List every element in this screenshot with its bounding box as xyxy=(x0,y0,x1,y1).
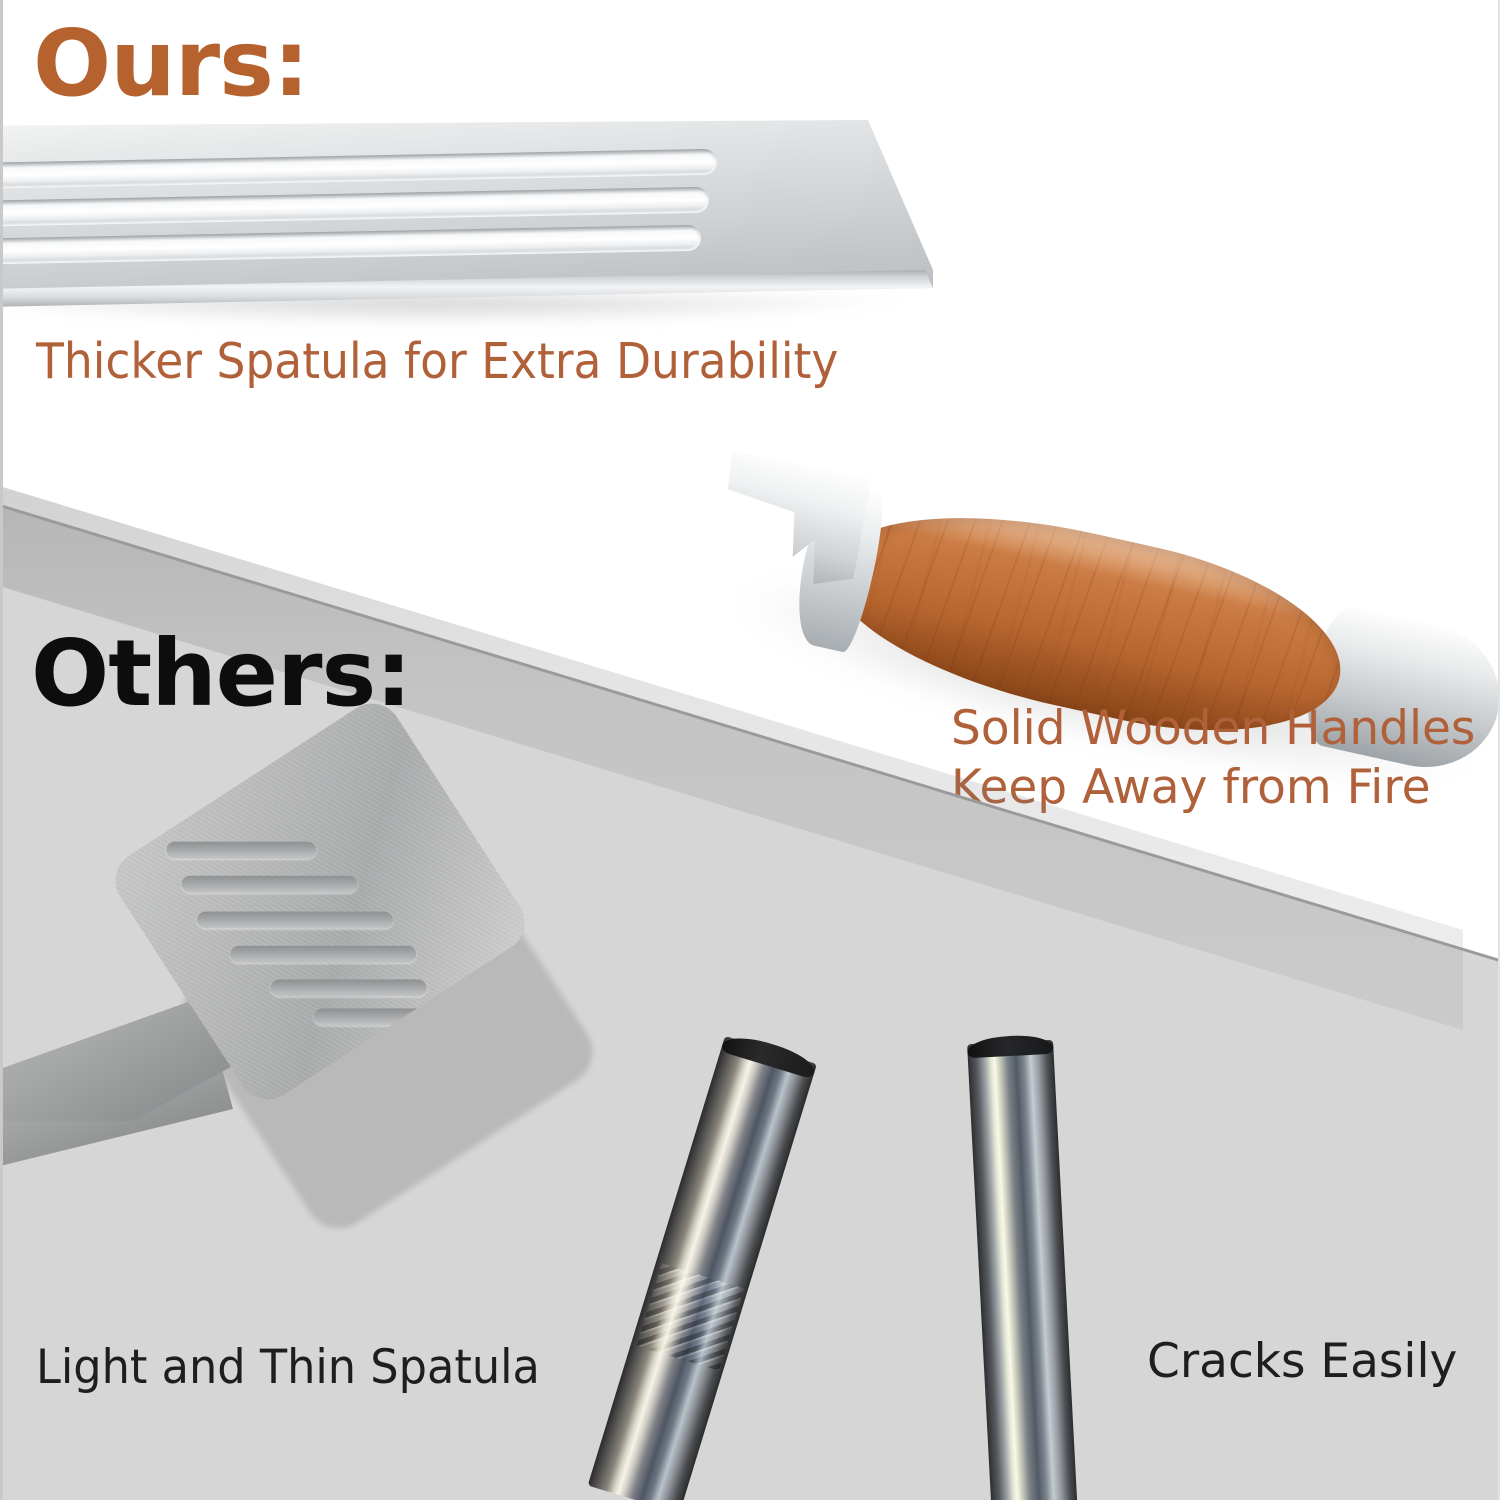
steel-tube-right xyxy=(967,1040,1078,1500)
caption-wooden-handles-line2: Keep Away from Fire xyxy=(951,760,1431,815)
caption-light-thin-spatula: Light and Thin Spatula xyxy=(36,1344,540,1391)
others-blade-slot xyxy=(197,912,393,929)
tube-open-end xyxy=(967,1034,1054,1058)
caption-cracks-easily: Cracks Easily xyxy=(1147,1338,1457,1385)
others-heading: Others: xyxy=(31,628,411,720)
comparison-infographic: Ours: Thicker Spatula for Extra Durabili… xyxy=(0,0,1500,1500)
others-blade-slot xyxy=(181,876,357,893)
caption-wooden-handles: Solid Wooden HandlesKeep Away from Fire xyxy=(951,700,1475,818)
caption-wooden-handles-line1: Solid Wooden Handles xyxy=(951,701,1475,756)
bottle-opener-tip-icon xyxy=(704,445,876,595)
ours-thick-spatula-image xyxy=(0,120,963,350)
others-blade-slot xyxy=(166,842,316,859)
tube-open-end xyxy=(720,1030,818,1079)
others-blade-slot xyxy=(230,946,416,963)
cracked-steel-tubes-image xyxy=(703,1020,1173,1500)
caption-thicker-spatula: Thicker Spatula for Extra Durability xyxy=(36,337,838,386)
ours-heading: Ours: xyxy=(33,18,309,110)
others-thin-spatula-image xyxy=(23,735,583,1295)
tube-crack-dent xyxy=(637,1263,744,1370)
others-blade-slot xyxy=(271,979,427,996)
